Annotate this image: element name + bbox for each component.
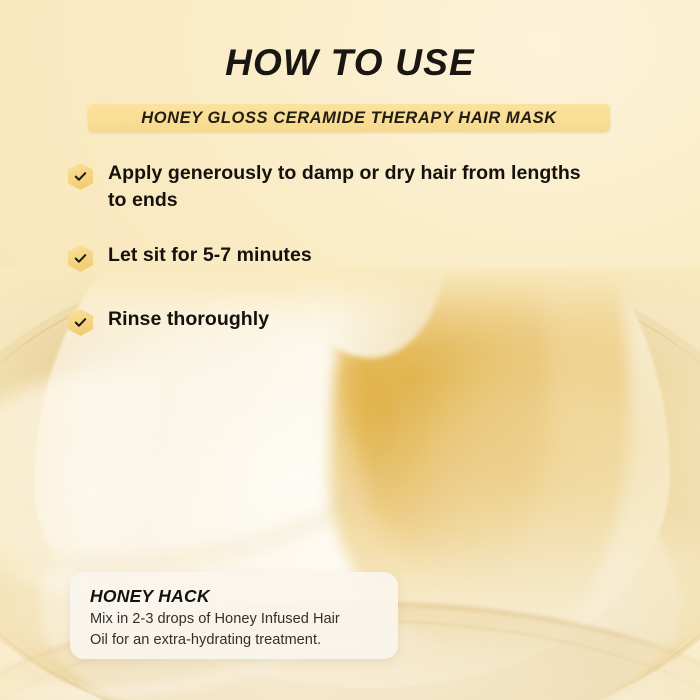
page-title: HOW TO USE	[0, 42, 700, 84]
check-icon	[68, 309, 93, 336]
product-name-label: HONEY GLOSS CERAMIDE THERAPY HAIR MASK	[141, 109, 556, 128]
honey-hack-line-2: Oil for an extra-hydrating treatment.	[90, 630, 380, 651]
steps-list: Apply generously to damp or dry hair fro…	[68, 160, 588, 336]
step-label: Let sit for 5-7 minutes	[108, 242, 312, 269]
step-label: Rinse thoroughly	[108, 306, 269, 333]
check-glyph	[68, 163, 93, 190]
infographic-canvas: HOW TO USE HONEY GLOSS CERAMIDE THERAPY …	[0, 0, 700, 700]
product-name-banner: HONEY GLOSS CERAMIDE THERAPY HAIR MASK	[88, 104, 610, 132]
step-item: Apply generously to damp or dry hair fro…	[68, 160, 588, 214]
honey-hack-body: Mix in 2-3 drops of Honey Infused Hair O…	[90, 609, 380, 650]
check-icon	[68, 245, 93, 272]
step-item: Rinse thoroughly	[68, 306, 588, 336]
honey-hack-title: HONEY HACK	[90, 585, 380, 607]
check-glyph	[68, 309, 93, 336]
honey-hack-line-1: Mix in 2-3 drops of Honey Infused Hair	[90, 609, 380, 630]
check-icon	[68, 163, 93, 190]
step-label: Apply generously to damp or dry hair fro…	[108, 160, 588, 214]
check-glyph	[68, 245, 93, 272]
honey-hack-card: HONEY HACK Mix in 2-3 drops of Honey Inf…	[70, 572, 398, 659]
step-item: Let sit for 5-7 minutes	[68, 242, 588, 272]
